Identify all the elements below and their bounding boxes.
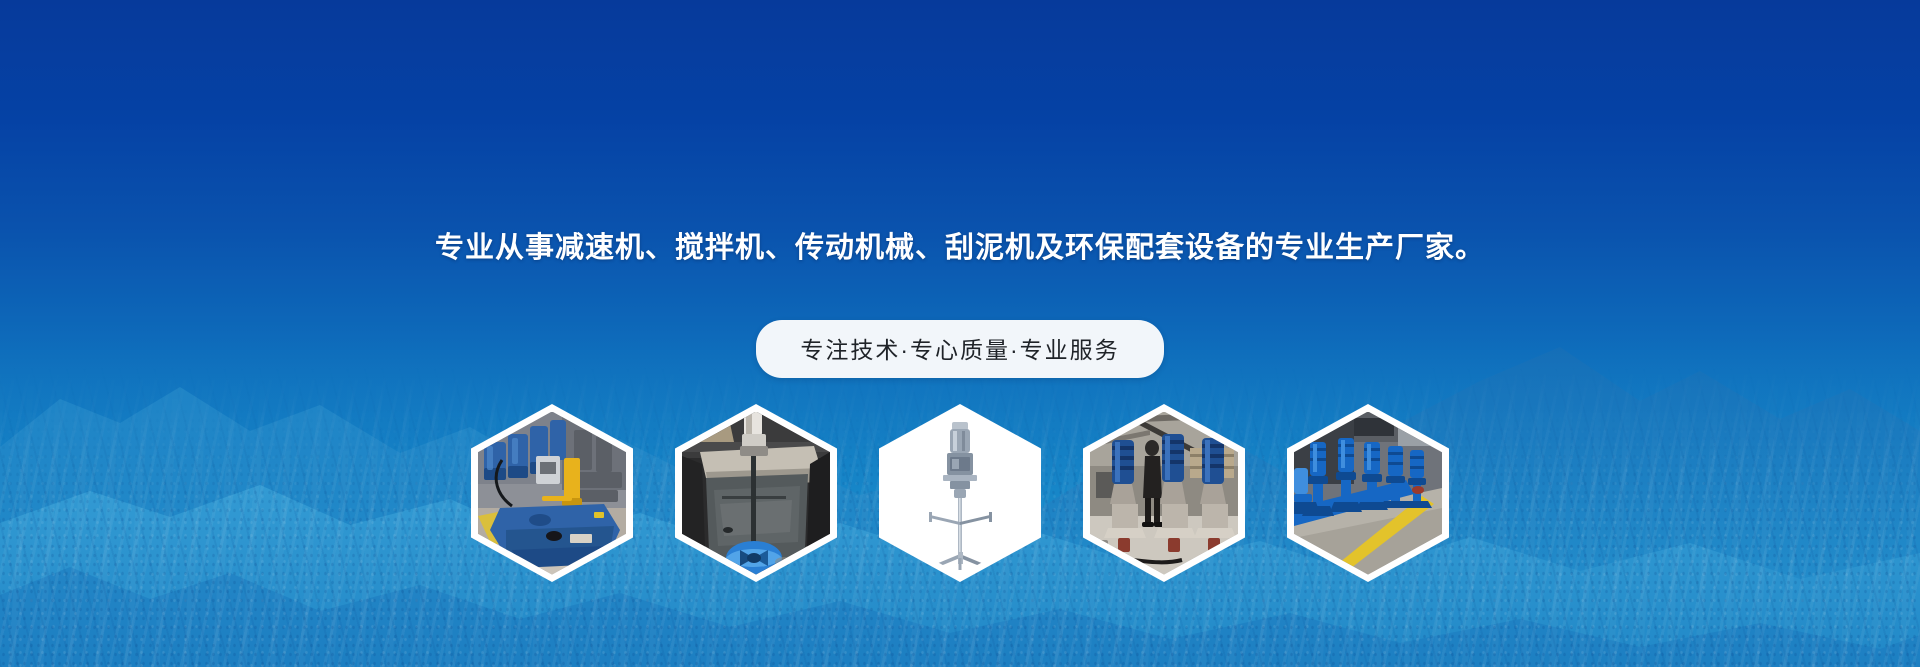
hex-image-gearbox-assembly-photo bbox=[478, 412, 626, 575]
hex-image-vertical-agitator-product[interactable] bbox=[879, 404, 1041, 582]
hex-image-gearbox-assembly[interactable] bbox=[471, 404, 633, 582]
hex-image-motor-units-photo bbox=[1090, 412, 1238, 575]
hero-banner: 专业从事减速机、搅拌机、传动机械、刮泥机及环保配套设备的专业生产厂家。 专注技术… bbox=[0, 0, 1920, 667]
hex-image-pump-rows-photo bbox=[1294, 412, 1442, 575]
hexagon-gallery bbox=[0, 404, 1920, 582]
hex-image-motor-units-workshop[interactable] bbox=[1083, 404, 1245, 582]
hex-image-mixer-tank[interactable] bbox=[675, 404, 837, 582]
slogan-badge-wrapper: 专注技术·专心质量·专业服务 bbox=[0, 320, 1920, 378]
page-title: 专业从事减速机、搅拌机、传动机械、刮泥机及环保配套设备的专业生产厂家。 bbox=[0, 230, 1920, 268]
slogan-badge: 专注技术·专心质量·专业服务 bbox=[756, 320, 1163, 378]
hex-image-vertical-agitator-photo bbox=[886, 412, 1034, 575]
hex-image-mixer-tank-photo bbox=[682, 412, 830, 575]
hex-image-pump-rows-yard[interactable] bbox=[1287, 404, 1449, 582]
